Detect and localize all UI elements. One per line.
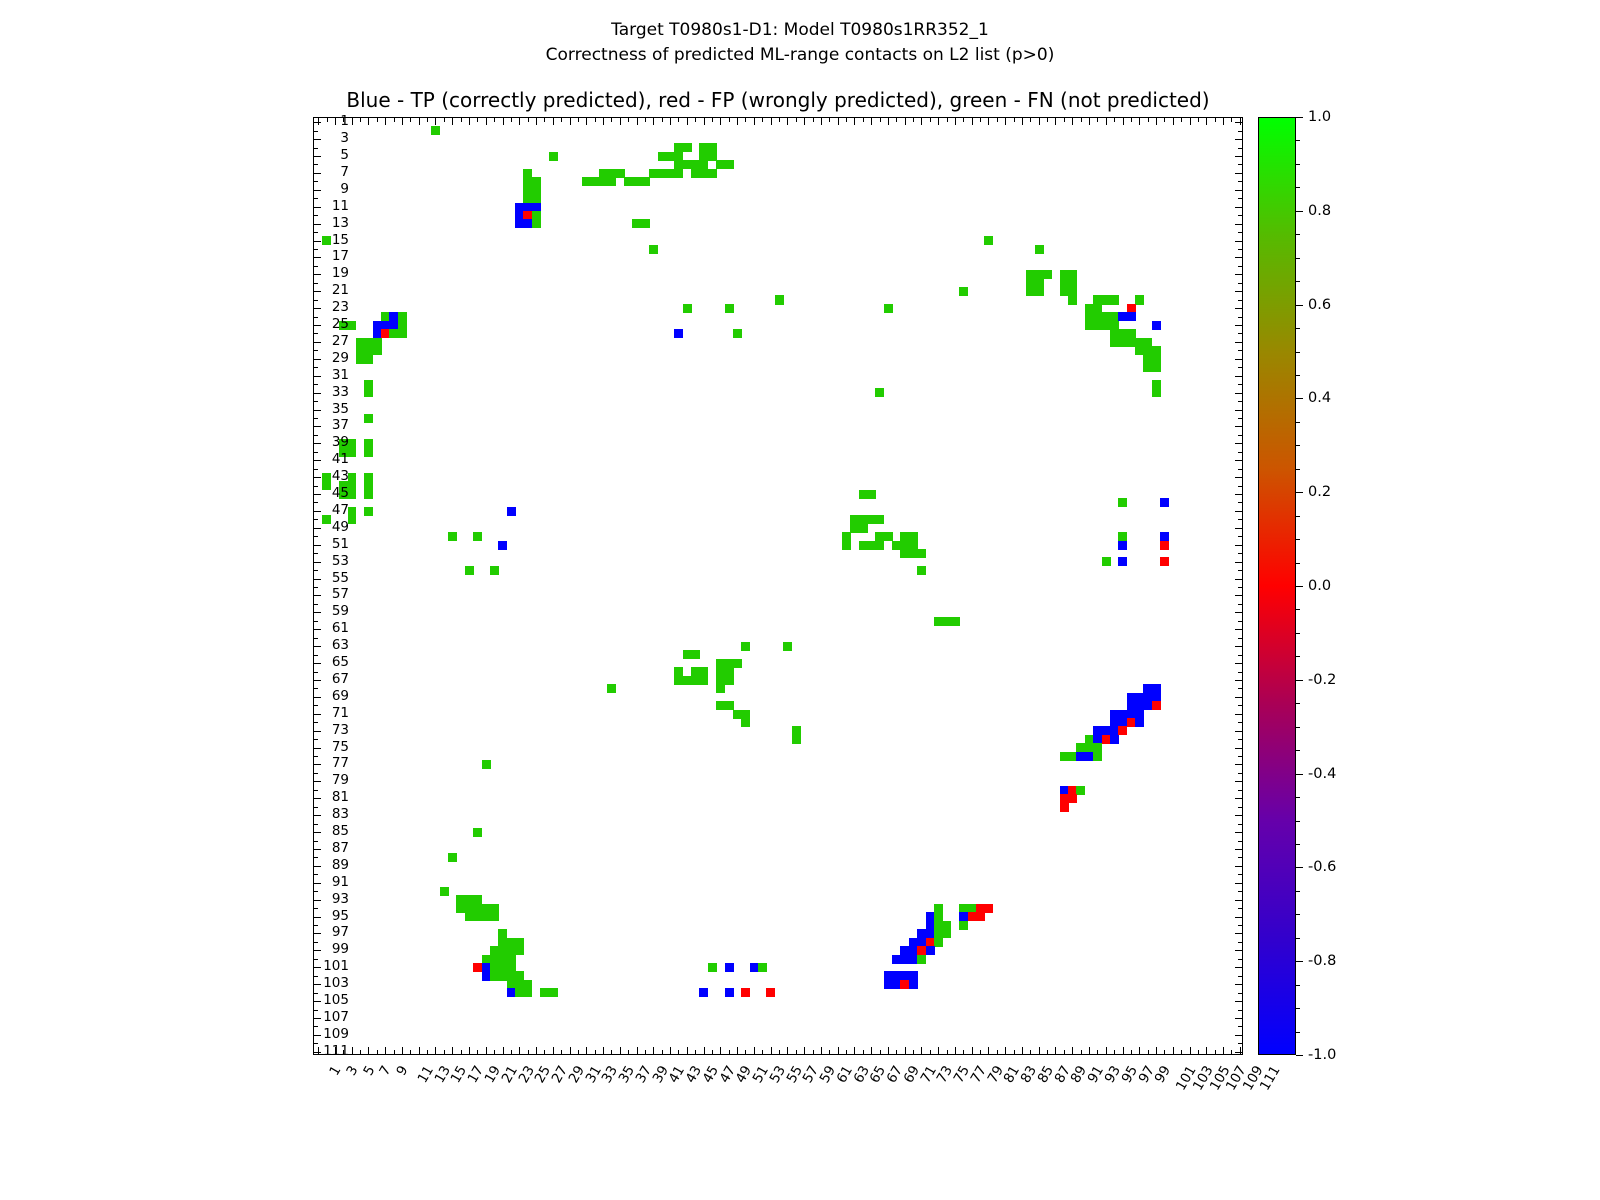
contact-cell-fn	[691, 650, 700, 659]
y-tick	[314, 452, 318, 453]
contact-cell-fn	[523, 988, 532, 997]
x-tick	[921, 1047, 922, 1054]
y-tick	[1238, 198, 1242, 199]
y-tick	[314, 511, 321, 512]
contact-cell-fn	[783, 642, 792, 651]
y-tick	[314, 917, 321, 918]
x-tick	[477, 1050, 478, 1054]
y-tick	[314, 308, 321, 309]
x-tick-label: 99	[1152, 1063, 1174, 1086]
y-tick	[1238, 705, 1242, 706]
y-tick	[314, 908, 318, 909]
colorbar-tick	[1296, 867, 1303, 868]
x-tick	[745, 1050, 746, 1054]
contact-cell-tp	[498, 541, 507, 550]
x-tick	[511, 118, 512, 122]
y-tick-label: 63	[332, 637, 349, 653]
contact-cell-tp	[1118, 557, 1127, 566]
x-tick	[896, 118, 897, 122]
y-tick	[314, 528, 321, 529]
colorbar-tick-label: -0.4	[1308, 766, 1336, 782]
x-tick	[561, 118, 562, 122]
y-tick	[314, 300, 318, 301]
x-tick	[1198, 1050, 1199, 1054]
x-tick	[435, 118, 436, 125]
y-tick-label: 93	[332, 891, 349, 907]
contact-cell-fp	[1060, 802, 1069, 811]
colorbar-minor-tick	[1296, 844, 1300, 845]
contact-cell-tp	[1160, 498, 1169, 507]
x-tick	[419, 118, 420, 125]
contact-cell-fn	[473, 828, 482, 837]
x-tick	[863, 1050, 864, 1054]
y-tick	[314, 739, 318, 740]
colorbar-minor-tick	[1296, 821, 1300, 822]
y-tick-label: 109	[323, 1026, 349, 1042]
x-tick	[553, 118, 554, 125]
contact-cell-fn	[884, 304, 893, 313]
contact-cell-fn	[733, 329, 742, 338]
y-tick	[314, 536, 318, 537]
y-tick	[1238, 790, 1242, 791]
y-tick	[1238, 519, 1242, 520]
x-tick	[494, 1050, 495, 1054]
contact-cell-fp	[1152, 701, 1161, 710]
x-tick	[712, 118, 713, 122]
x-tick	[796, 118, 797, 122]
y-tick-label: 97	[332, 924, 349, 940]
colorbar-tick	[1296, 774, 1303, 775]
x-tick	[771, 1047, 772, 1054]
contact-cell-fn	[741, 718, 750, 727]
contact-cell-fn	[473, 532, 482, 541]
x-tick	[1072, 118, 1073, 125]
y-tick-label: 33	[332, 384, 349, 400]
y-tick	[314, 646, 321, 647]
contact-map-cells	[314, 118, 1242, 1054]
y-tick	[1238, 215, 1242, 216]
x-tick	[1030, 1050, 1031, 1054]
y-tick	[314, 697, 321, 698]
y-tick-label: 91	[332, 874, 349, 890]
contact-cell-fn	[792, 735, 801, 744]
contact-cell-fn	[1035, 245, 1044, 254]
x-tick	[754, 118, 755, 125]
y-tick-label: 31	[332, 367, 349, 383]
y-tick-label: 43	[332, 468, 349, 484]
colorbar-minor-tick	[1296, 609, 1300, 610]
x-tick	[385, 118, 386, 125]
y-tick	[1238, 164, 1242, 165]
y-tick	[1235, 917, 1242, 918]
y-tick	[1235, 680, 1242, 681]
y-tick	[1238, 756, 1242, 757]
y-tick	[314, 562, 321, 563]
y-tick-label: 13	[332, 215, 349, 231]
contact-cell-tp	[725, 963, 734, 972]
y-tick	[314, 266, 318, 267]
y-tick	[314, 781, 321, 782]
x-tick	[930, 118, 931, 122]
x-tick	[1081, 118, 1082, 122]
x-tick	[1106, 118, 1107, 125]
y-tick	[314, 410, 321, 411]
y-tick	[1238, 908, 1242, 909]
y-tick	[314, 942, 318, 943]
x-tick	[813, 1050, 814, 1054]
contact-cell-fn	[859, 524, 868, 533]
x-tick	[988, 1047, 989, 1054]
y-tick-label: 105	[323, 992, 349, 1008]
contact-cell-fn	[1076, 786, 1085, 795]
x-tick	[729, 1050, 730, 1054]
x-tick	[637, 118, 638, 125]
contact-cell-fn	[867, 490, 876, 499]
x-tick	[720, 118, 721, 125]
x-tick	[896, 1050, 897, 1054]
y-tick	[1238, 435, 1242, 436]
x-tick	[762, 118, 763, 122]
y-tick-label: 49	[332, 519, 349, 535]
y-tick	[1235, 122, 1242, 123]
x-tick	[796, 1050, 797, 1054]
colorbar-tick-label: 0.2	[1308, 484, 1331, 500]
x-tick	[1164, 118, 1165, 122]
x-tick	[1047, 118, 1048, 122]
x-tick	[1005, 1047, 1006, 1054]
y-tick	[1235, 731, 1242, 732]
x-tick	[1206, 1047, 1207, 1054]
x-tick	[1064, 1050, 1065, 1054]
contact-cell-fn	[440, 887, 449, 896]
colorbar-minor-tick	[1296, 914, 1300, 915]
x-tick	[327, 118, 328, 122]
colorbar-minor-tick	[1296, 727, 1300, 728]
colorbar-minor-tick	[1296, 140, 1300, 141]
y-tick	[1238, 232, 1242, 233]
x-tick	[704, 1047, 705, 1054]
y-tick-label: 45	[332, 485, 349, 501]
y-tick	[314, 756, 318, 757]
y-tick	[314, 224, 321, 225]
y-tick	[1235, 528, 1242, 529]
y-tick-label: 25	[332, 316, 349, 332]
y-tick	[1235, 984, 1242, 985]
y-tick	[314, 426, 321, 427]
y-tick-label: 9	[340, 181, 349, 197]
x-tick	[729, 118, 730, 122]
x-tick	[712, 1050, 713, 1054]
y-tick	[1238, 739, 1242, 740]
x-tick	[318, 1047, 319, 1054]
y-tick	[314, 443, 321, 444]
y-tick	[1238, 266, 1242, 267]
x-tick	[385, 1047, 386, 1054]
colorbar-tick-label: 0.6	[1308, 297, 1331, 313]
contact-cell-fn	[716, 684, 725, 693]
x-tick	[402, 118, 403, 125]
x-tick	[1114, 118, 1115, 122]
y-tick-label: 15	[332, 232, 349, 248]
x-tick	[1156, 1047, 1157, 1054]
y-tick	[314, 460, 321, 461]
colorbar-tick	[1296, 680, 1303, 681]
x-tick	[628, 118, 629, 122]
x-tick	[603, 118, 604, 125]
contact-cell-fn	[959, 287, 968, 296]
x-tick	[1022, 118, 1023, 125]
contact-cell-fn	[398, 329, 407, 338]
x-tick	[377, 118, 378, 122]
y-tick-label: 57	[332, 586, 349, 602]
y-tick	[1235, 781, 1242, 782]
y-tick	[314, 325, 321, 326]
x-tick	[988, 118, 989, 125]
y-tick	[314, 418, 318, 419]
contact-cell-fn	[549, 152, 558, 161]
x-tick	[503, 1047, 504, 1054]
y-tick	[314, 190, 321, 191]
y-tick	[314, 342, 321, 343]
x-tick	[779, 118, 780, 122]
contact-cell-fn	[1102, 557, 1111, 566]
y-tick	[1238, 976, 1242, 977]
y-tick	[1238, 621, 1242, 622]
y-tick	[314, 570, 318, 571]
y-tick	[314, 173, 321, 174]
x-tick	[1081, 1050, 1082, 1054]
y-tick-label: 61	[332, 620, 349, 636]
y-tick	[1235, 1001, 1242, 1002]
contact-cell-fp	[1118, 726, 1127, 735]
contact-cell-fn	[322, 236, 331, 245]
x-tick	[486, 1047, 487, 1054]
y-tick-label: 19	[332, 265, 349, 281]
y-tick	[1235, 595, 1242, 596]
y-tick	[1235, 629, 1242, 630]
contact-cell-fn	[1118, 498, 1127, 507]
x-tick	[318, 118, 319, 125]
x-tick	[1089, 118, 1090, 125]
contact-cell-tp	[909, 980, 918, 989]
y-tick-label: 73	[332, 722, 349, 738]
y-tick	[314, 241, 321, 242]
x-tick	[1223, 1047, 1224, 1054]
x-tick	[561, 1050, 562, 1054]
x-tick	[972, 118, 973, 125]
contact-cell-fn	[1035, 287, 1044, 296]
colorbar-minor-tick	[1296, 281, 1300, 282]
y-tick	[314, 663, 321, 664]
x-tick	[955, 118, 956, 125]
contact-cell-fn	[875, 388, 884, 397]
y-tick	[314, 274, 321, 275]
x-tick	[888, 118, 889, 125]
y-tick	[314, 638, 318, 639]
x-tick	[1148, 118, 1149, 122]
y-tick	[1235, 933, 1242, 934]
colorbar-minor-tick	[1296, 328, 1300, 329]
y-tick	[314, 207, 321, 208]
x-tick	[829, 118, 830, 122]
contact-cell-fp	[741, 988, 750, 997]
x-tick	[1123, 118, 1124, 125]
x-tick	[377, 1050, 378, 1054]
y-tick	[314, 891, 318, 892]
contact-cell-fn	[984, 236, 993, 245]
x-tick	[662, 1050, 663, 1054]
x-tick	[787, 118, 788, 125]
x-tick	[863, 118, 864, 122]
x-tick	[1114, 1050, 1115, 1054]
x-tick	[553, 1047, 554, 1054]
y-tick-label: 71	[332, 705, 349, 721]
suptitle-line-2: Correctness of predicted ML-range contac…	[0, 43, 1600, 68]
contact-cell-fn	[641, 219, 650, 228]
x-tick	[745, 118, 746, 122]
x-tick	[871, 1047, 872, 1054]
y-tick	[1235, 579, 1242, 580]
y-tick-label: 103	[323, 975, 349, 991]
y-tick	[314, 604, 318, 605]
x-tick	[503, 118, 504, 125]
x-tick	[536, 118, 537, 125]
contact-cell-fn	[1093, 752, 1102, 761]
x-tick	[913, 1050, 914, 1054]
x-tick	[720, 1047, 721, 1054]
y-tick-label: 55	[332, 570, 349, 586]
y-tick	[314, 164, 318, 165]
y-tick	[314, 866, 321, 867]
x-tick	[804, 1047, 805, 1054]
contact-cell-fp	[976, 912, 985, 921]
x-tick	[1055, 118, 1056, 125]
y-tick	[1235, 764, 1242, 765]
x-tick	[754, 1047, 755, 1054]
y-tick	[1235, 511, 1242, 512]
x-tick	[905, 1047, 906, 1054]
y-tick	[1238, 655, 1242, 656]
contact-cell-fn	[607, 684, 616, 693]
y-tick	[314, 553, 318, 554]
x-tick	[930, 1050, 931, 1054]
colorbar-minor-tick	[1296, 516, 1300, 517]
y-tick	[1238, 587, 1242, 588]
contact-cell-fn	[364, 355, 373, 364]
x-tick-label: 7	[377, 1063, 395, 1078]
contact-cell-tp	[1110, 735, 1119, 744]
x-tick	[1030, 118, 1031, 122]
y-tick	[1235, 646, 1242, 647]
contact-cell-fn	[917, 566, 926, 575]
contact-cell-fn	[448, 532, 457, 541]
contact-cell-fn	[725, 160, 734, 169]
y-tick	[314, 933, 321, 934]
x-tick	[955, 1047, 956, 1054]
y-tick-label: 95	[332, 908, 349, 924]
contact-cell-fp	[1160, 557, 1169, 566]
y-tick	[1238, 553, 1242, 554]
x-tick	[410, 1050, 411, 1054]
contact-cell-fn	[641, 177, 650, 186]
colorbar-minor-tick	[1296, 164, 1300, 165]
contact-cell-fn	[515, 946, 524, 955]
y-tick-label: 75	[332, 739, 349, 755]
y-tick	[1235, 342, 1242, 343]
y-tick	[1238, 418, 1242, 419]
x-tick	[1148, 1050, 1149, 1054]
x-tick	[921, 118, 922, 125]
contact-cell-tp	[507, 507, 516, 516]
y-tick	[1235, 426, 1242, 427]
y-tick	[314, 393, 321, 394]
contact-map-plot[interactable]	[313, 117, 1243, 1055]
y-tick-label: 79	[332, 772, 349, 788]
y-tick	[1235, 562, 1242, 563]
contact-cell-fn	[549, 988, 558, 997]
y-tick	[1235, 1035, 1242, 1036]
y-tick	[1235, 663, 1242, 664]
colorbar-minor-tick	[1296, 234, 1300, 235]
y-tick	[1238, 891, 1242, 892]
colorbar-tick	[1296, 1055, 1303, 1056]
colorbar-minor-tick	[1296, 633, 1300, 634]
x-tick	[419, 1047, 420, 1054]
x-tick	[771, 118, 772, 125]
colorbar-minor-tick	[1296, 539, 1300, 540]
y-tick	[1238, 993, 1242, 994]
y-tick-label: 89	[332, 857, 349, 873]
y-tick	[1238, 1026, 1242, 1027]
contact-cell-fn	[448, 853, 457, 862]
y-tick	[1238, 604, 1242, 605]
x-tick	[1064, 118, 1065, 122]
y-tick	[1238, 807, 1242, 808]
colorbar-tick-label: 1.0	[1308, 109, 1331, 125]
y-tick	[314, 1010, 318, 1011]
x-tick	[980, 1050, 981, 1054]
y-tick	[1238, 638, 1242, 639]
y-tick	[1238, 317, 1242, 318]
colorbar-minor-tick	[1296, 938, 1300, 939]
x-tick	[1106, 1047, 1107, 1054]
x-tick	[1131, 1050, 1132, 1054]
y-tick-label: 37	[332, 417, 349, 433]
x-tick	[695, 118, 696, 122]
x-tick	[1215, 1050, 1216, 1054]
x-tick	[645, 118, 646, 122]
y-tick	[314, 841, 318, 842]
y-tick	[314, 798, 321, 799]
x-tick	[1215, 118, 1216, 122]
contact-cell-fn	[842, 541, 851, 550]
x-tick	[846, 1050, 847, 1054]
x-tick	[578, 1050, 579, 1054]
y-tick	[1238, 131, 1242, 132]
x-tick	[653, 1047, 654, 1054]
contact-cell-fn	[875, 541, 884, 550]
contact-cell-fn	[322, 481, 331, 490]
y-tick-label: 29	[332, 350, 349, 366]
x-tick	[427, 118, 428, 122]
y-tick	[1235, 359, 1242, 360]
y-tick	[1235, 494, 1242, 495]
y-tick	[314, 773, 318, 774]
y-tick-label: 41	[332, 451, 349, 467]
y-tick-label: 69	[332, 688, 349, 704]
y-tick	[1235, 376, 1242, 377]
x-tick	[947, 1050, 948, 1054]
